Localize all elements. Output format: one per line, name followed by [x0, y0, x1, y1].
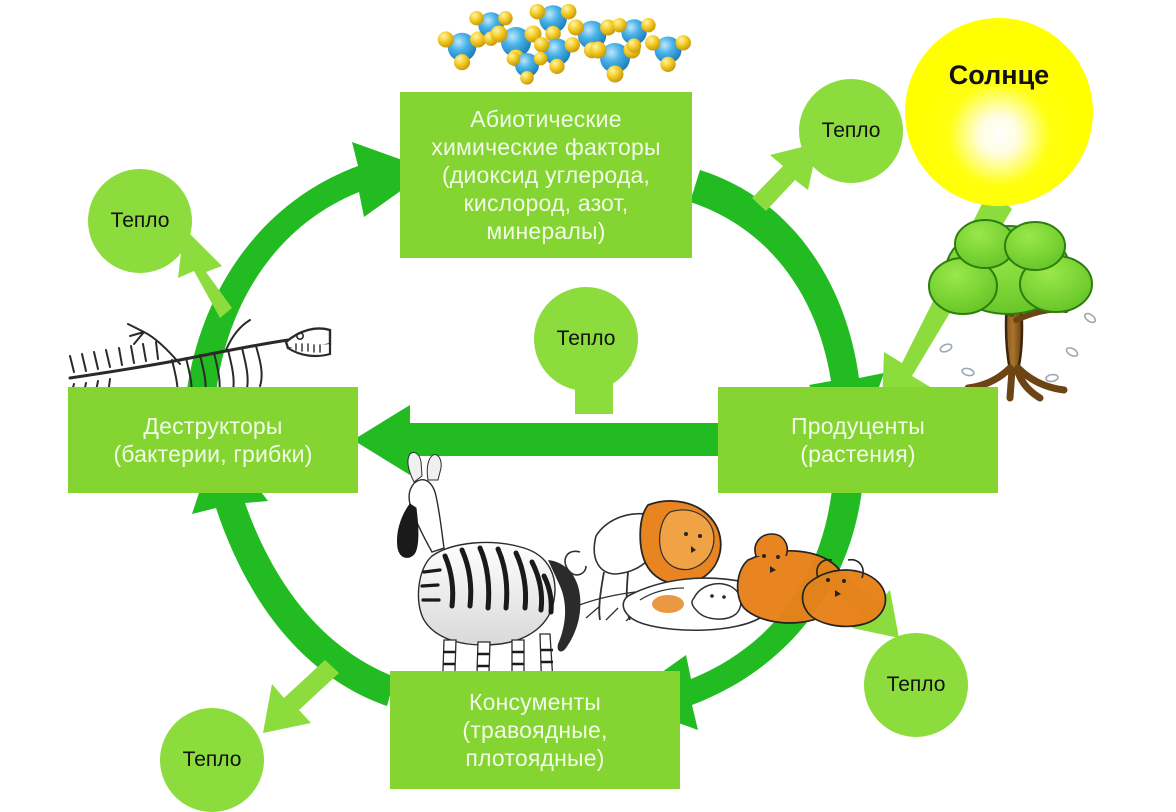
heat-node-lower-right[interactable]: Тепло: [864, 633, 968, 737]
node-destructors[interactable]: Деструкторы (бактерии, грибки): [68, 387, 358, 493]
cycle-arrow-destructors-to-abiotic: [185, 142, 430, 405]
sun-circle: [905, 18, 1093, 206]
abiotic-line-1: Абиотические: [425, 105, 666, 133]
consumers-line-1: Консументы: [456, 688, 613, 716]
sun-label: Солнце: [905, 60, 1093, 91]
abiotic-line-4: кислород, азот,: [425, 189, 666, 217]
molecules-cluster: [438, 4, 691, 85]
abiotic-line-5: минералы): [425, 217, 666, 245]
node-consumers[interactable]: Консументы (травоядные, плотоядные): [390, 671, 680, 789]
node-abiotic-chemical-factors[interactable]: Абиотические химические факторы (диоксид…: [400, 92, 692, 258]
heat-node-lower-left[interactable]: Тепло: [160, 708, 264, 812]
consumers-line-3: плотоядные): [456, 744, 613, 772]
heat-arrow-to-bottomleft-circle: [263, 660, 339, 733]
heat-node-center[interactable]: Тепло: [534, 287, 638, 391]
producers-line-2: (растения): [785, 440, 931, 468]
producers-line-1: Продуценты: [785, 412, 931, 440]
heat-node-upper-left[interactable]: Тепло: [88, 169, 192, 273]
abiotic-line-2: химические факторы: [425, 133, 666, 161]
consumers-line-2: (травоядные,: [456, 716, 613, 744]
heat-node-upper-right[interactable]: Тепло: [799, 79, 903, 183]
destructors-line-2: (бактерии, грибки): [107, 440, 318, 468]
node-producers[interactable]: Продуценты (растения): [718, 387, 998, 493]
tree-illustration: [929, 220, 1097, 398]
destructors-line-1: Деструкторы: [107, 412, 318, 440]
abiotic-line-3: (диоксид углерода,: [425, 161, 666, 189]
ecosystem-cycle-diagram: Абиотические химические факторы (диоксид…: [0, 0, 1176, 806]
